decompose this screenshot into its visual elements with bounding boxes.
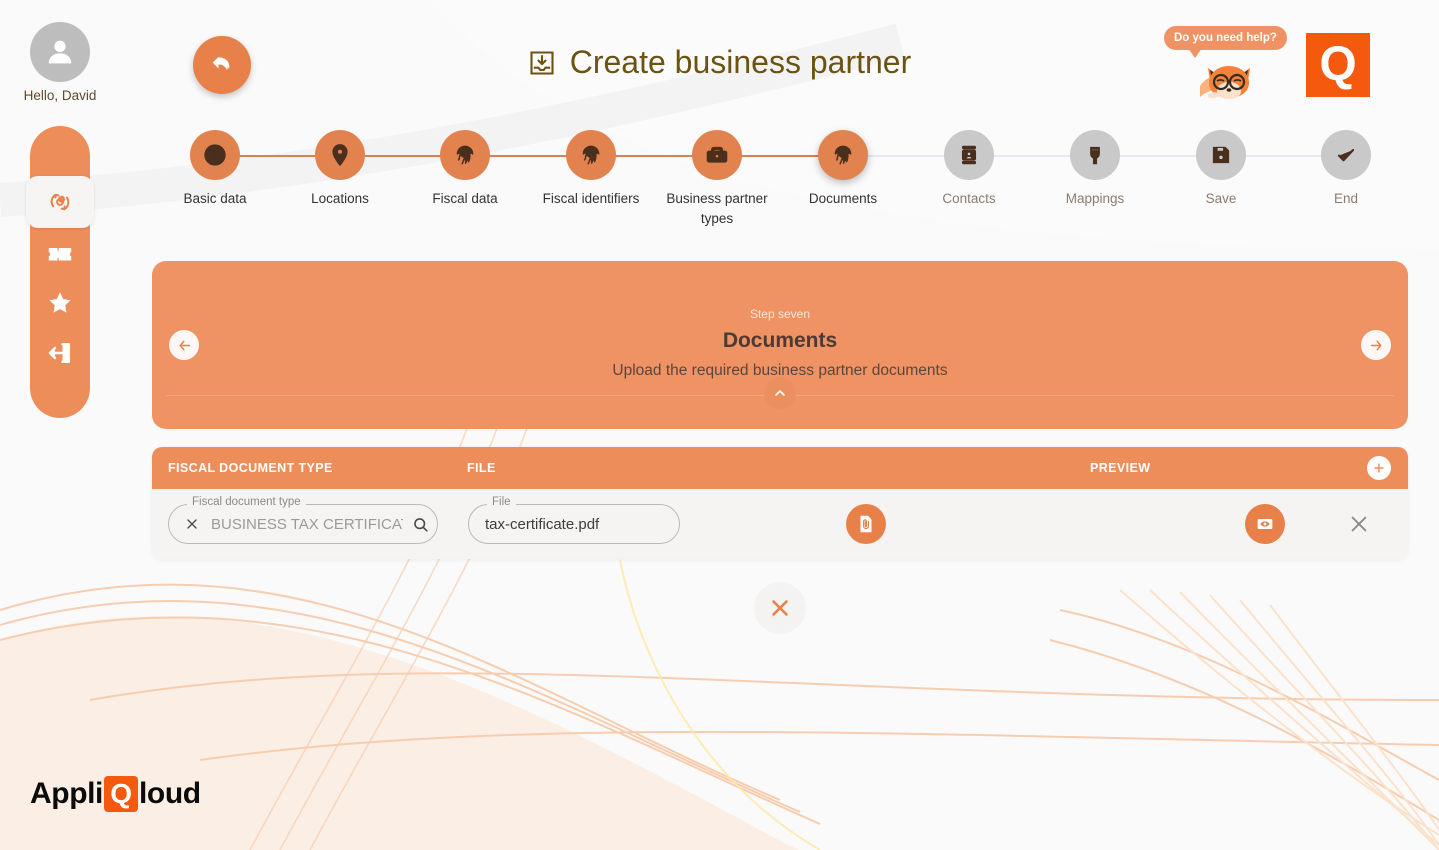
gear-refresh-icon [45,187,75,217]
table-row: Fiscal document type BUSINESS TAX CERTIF… [152,489,1408,559]
inbox-download-icon [528,49,556,77]
step-title: Documents [152,329,1408,353]
file-value: tax-certificate.pdf [469,516,679,533]
page-title-text: Create business partner [570,44,912,81]
sidebar-item-tickets[interactable] [30,228,90,278]
user-greeting: Hello, David [16,88,104,103]
plus-icon [1370,459,1388,477]
briefcase-icon [704,142,730,168]
fingerprint-icon [830,142,856,168]
file-label: File [487,496,516,508]
step-label: End [1286,189,1406,209]
step-circle [944,130,994,180]
step-business-partner-types[interactable]: Business partner types [657,130,777,228]
floppy-disk-icon [1208,142,1234,168]
step-circle [440,130,490,180]
step-basic-data[interactable]: Basic data [155,130,275,209]
step-circle [1196,130,1246,180]
brand-prefix: Appli [30,777,103,811]
step-label: Fiscal data [405,189,525,209]
clear-doc-type-button[interactable] [181,513,203,535]
eye-preview-icon [1254,513,1276,535]
step-label: Fiscal identifiers [531,189,651,209]
close-icon [1348,513,1370,535]
collapse-panel-button[interactable] [764,377,796,409]
delete-row-button[interactable] [1346,511,1372,537]
attachment-document-icon [855,513,877,535]
search-icon [411,515,430,534]
sidebar-item-logout[interactable] [30,328,90,378]
help-bubble[interactable]: Do you need help? [1164,26,1287,50]
help-assistant[interactable]: Do you need help? [1164,22,1294,107]
fingerprint-icon [452,142,478,168]
step-info-panel: Step seven Documents Upload the required… [152,261,1408,429]
chevron-up-icon [772,385,788,401]
step-circle [315,130,365,180]
map-pin-icon [327,142,353,168]
step-circle [818,130,868,180]
sidebar-rail [30,126,90,418]
fingerprint-icon [578,142,604,168]
step-documents[interactable]: Documents [783,130,903,209]
step-circle [190,130,240,180]
search-doc-type-button[interactable] [403,515,437,534]
fox-mascot-icon [1194,52,1264,107]
app-root: Hello, David [0,0,1439,850]
contact-card-icon [956,142,982,168]
column-header-doc-type: FISCAL DOCUMENT TYPE [168,461,333,475]
sidebar-item-favorites[interactable] [30,278,90,328]
next-step-button[interactable] [1361,330,1391,360]
step-label: Documents [783,189,903,209]
step-fiscal-identifiers[interactable]: Fiscal identifiers [531,130,651,209]
step-circle [1070,130,1120,180]
sidebar-item-processes[interactable] [26,176,94,228]
step-circle [566,130,616,180]
fiscal-document-type-field[interactable]: Fiscal document type BUSINESS TAX CERTIF… [168,504,438,544]
step-label: Basic data [155,189,275,209]
info-icon [202,142,228,168]
logout-icon [45,338,75,368]
brand-suffix: loud [139,777,201,811]
file-field[interactable]: File tax-certificate.pdf [468,504,680,544]
close-section-button[interactable] [754,582,806,634]
step-locations[interactable]: Locations [280,130,400,209]
preview-document-button[interactable] [1245,504,1285,544]
ticket-icon [45,238,75,268]
star-icon [45,288,75,318]
brand-q-mark: Q [104,776,138,812]
footer-brand-logo: Appli Q loud [30,776,201,812]
step-label: Save [1161,189,1281,209]
step-label: Business partner types [657,189,777,228]
plug-icon [1082,142,1108,168]
step-end[interactable]: End [1286,130,1406,209]
step-circle [1321,130,1371,180]
fiscal-document-type-label: Fiscal document type [187,496,306,508]
add-document-button[interactable] [1367,456,1391,480]
step-label: Locations [280,189,400,209]
arrow-right-icon [1368,337,1385,354]
table-header: FISCAL DOCUMENT TYPE FILE PREVIEW [152,447,1408,489]
close-icon [767,595,793,621]
close-icon [184,516,200,532]
step-save[interactable]: Save [1161,130,1281,209]
brand-logo[interactable]: Q [1306,33,1370,97]
attach-file-button[interactable] [846,504,886,544]
step-label: Mappings [1035,189,1155,209]
step-info-content: Step seven Documents Upload the required… [152,307,1408,380]
column-header-file: FILE [467,461,496,475]
step-label: Contacts [909,189,1029,209]
step-fiscal-data[interactable]: Fiscal data [405,130,525,209]
documents-table: FISCAL DOCUMENT TYPE FILE PREVIEW Fiscal… [152,447,1408,559]
wizard-stepper: Basic data Locations Fiscal data [155,130,1395,240]
fiscal-document-type-value: BUSINESS TAX CERTIFICATE [203,516,403,533]
column-header-preview: PREVIEW [1090,461,1150,475]
step-circle [692,130,742,180]
check-icon [1333,142,1359,168]
step-mappings[interactable]: Mappings [1035,130,1155,209]
step-contacts[interactable]: Contacts [909,130,1029,209]
step-kicker: Step seven [152,307,1408,321]
